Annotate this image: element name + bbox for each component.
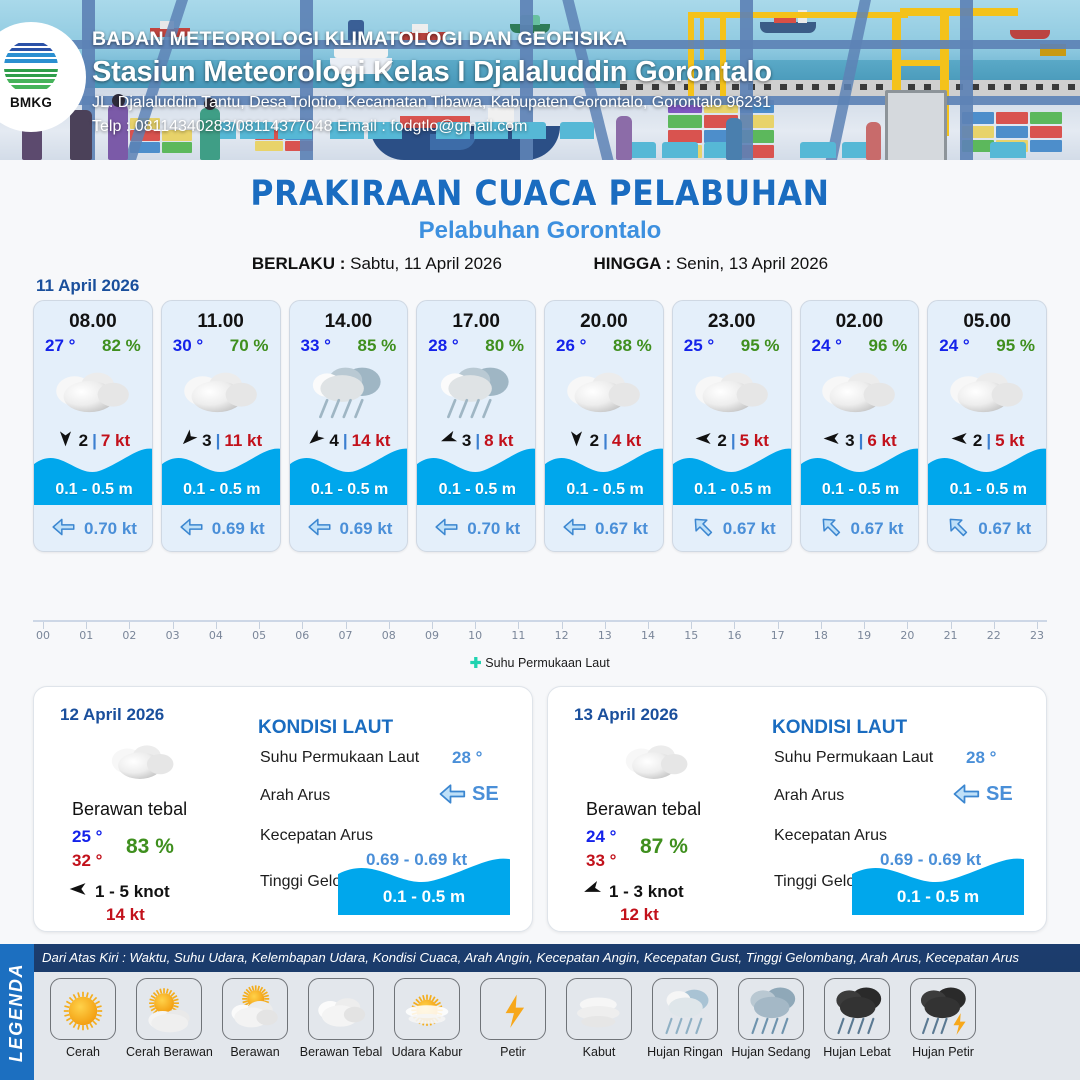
current-direction-label: Arah Arus: [774, 787, 844, 805]
daily-temp-min: 25 °: [72, 827, 102, 847]
page-subtitle: Pelabuhan Gorontalo: [0, 217, 1080, 245]
hourly-forecast-card: 02.00 24 ° 96 % 3 | 6 kt 0.1 - 0.5 m: [800, 300, 920, 552]
hingga-group: HINGGA : Senin, 13 April 2026: [593, 254, 828, 274]
legend-item: Cerah: [40, 978, 126, 1059]
axis-tick-label: 00: [36, 629, 50, 642]
sst-label: Suhu Permukaan Laut: [260, 749, 419, 767]
forecast-time: 02.00: [801, 311, 919, 333]
daily-gust: 12 kt: [620, 905, 659, 925]
berlaku-group: BERLAKU : Sabtu, 11 April 2026: [252, 254, 502, 274]
validity-row: BERLAKU : Sabtu, 11 April 2026 HINGGA : …: [0, 254, 1080, 274]
current-speed: 0.69 kt: [212, 519, 265, 539]
wave-height-block: 0.1 - 0.5 m: [801, 443, 920, 505]
daily-wave-value: 0.1 - 0.5 m: [852, 887, 1024, 907]
hingga-value: Senin, 13 April 2026: [676, 254, 828, 273]
daily-humidity: 83 %: [126, 835, 174, 859]
axis-tick-label: 23: [1030, 629, 1044, 642]
daily-humidity: 87 %: [640, 835, 688, 859]
air-temperature: 27 °: [45, 336, 75, 356]
current-direction-value: SE: [986, 783, 1013, 806]
hourly-forecast-card: 11.00 30 ° 70 % 3 | 11 kt 0.1 - 0.5 m: [161, 300, 281, 552]
humidity: 70 %: [230, 336, 269, 356]
sst-legend-label: Suhu Permukaan Laut: [485, 656, 609, 670]
current-row: 0.67 kt: [928, 507, 1047, 551]
current-speed-label: Kecepatan Arus: [774, 827, 887, 845]
thunderstorm-icon: [910, 978, 976, 1040]
legend-item-label: Petir: [470, 1045, 556, 1059]
hourly-forecast-card: 14.00 33 ° 85 % 4 |: [289, 300, 409, 552]
wave-height: 0.1 - 0.5 m: [34, 481, 153, 499]
lightning-icon: [480, 978, 546, 1040]
sea-condition-title: KONDISI LAUT: [258, 717, 393, 739]
legend-side-label: LEGENDA: [0, 944, 34, 1080]
daily-condition: Berawan tebal: [72, 799, 187, 820]
wave-height-block: 0.1 - 0.5 m: [928, 443, 1047, 505]
axis-tick: [562, 622, 563, 629]
weather-condition-icon: [162, 360, 280, 422]
axis-tick: [475, 622, 476, 629]
legend-item: Hujan Petir: [900, 978, 986, 1059]
daily-wind-direction-icon: [582, 879, 602, 904]
axis-tick: [994, 622, 995, 629]
forecast-time: 05.00: [928, 311, 1046, 333]
daily-wave-block: 0.1 - 0.5 m: [338, 853, 510, 915]
legend-item-label: Cerah Berawan: [126, 1045, 212, 1059]
current-direction-icon: [434, 514, 460, 545]
haze-icon: [394, 978, 460, 1040]
current-speed: 0.67 kt: [978, 519, 1031, 539]
current-row: 0.70 kt: [417, 507, 536, 551]
wave-height-block: 0.1 - 0.5 m: [162, 443, 281, 505]
axis-tick-label: 16: [727, 629, 741, 642]
legend-item-label: Berawan Tebal: [298, 1045, 384, 1059]
current-direction-icon: [307, 514, 333, 545]
daily-wind-range: 1 - 5 knot: [95, 882, 170, 902]
hourly-forecast-card: 23.00 25 ° 95 % 2 | 5 kt 0.1 - 0.5 m: [672, 300, 792, 552]
humidity: 80 %: [485, 336, 524, 356]
forecast-time: 08.00: [34, 311, 152, 333]
daily-wind-row: 1 - 5 knot: [68, 879, 170, 904]
axis-tick: [346, 622, 347, 629]
current-direction-icon: [945, 514, 971, 545]
axis-tick-label: 05: [252, 629, 266, 642]
station-contact: Telp : 08114340283/08114377048 Email : f…: [92, 115, 1072, 139]
sst-legend-marker-icon: [470, 657, 481, 668]
legend-item: Petir: [470, 978, 556, 1059]
cloud-icon: [308, 978, 374, 1040]
humidity: 95 %: [996, 336, 1035, 356]
current-speed: 0.67 kt: [723, 519, 776, 539]
humidity: 96 %: [869, 336, 908, 356]
daily-wave-value: 0.1 - 0.5 m: [338, 887, 510, 907]
axis-tick-label: 11: [511, 629, 525, 642]
legend-item: Hujan Sedang: [728, 978, 814, 1059]
weather-condition-icon: [545, 360, 663, 422]
weather-condition-icon: [290, 360, 408, 422]
axis-tick-label: 04: [209, 629, 223, 642]
agency-name: BADAN METEOROLOGI KLIMATOLOGI DAN GEOFIS…: [92, 26, 1072, 52]
wave-height: 0.1 - 0.5 m: [673, 481, 792, 499]
axis-tick: [129, 622, 130, 629]
legend-item: Hujan Ringan: [642, 978, 728, 1059]
current-row: 0.69 kt: [162, 507, 281, 551]
air-temperature: 33 °: [301, 336, 331, 356]
daily-temp-min: 24 °: [586, 827, 616, 847]
axis-tick-label: 09: [425, 629, 439, 642]
daily-wind-range: 1 - 3 knot: [609, 882, 684, 902]
axis-tick: [864, 622, 865, 629]
axis-tick: [691, 622, 692, 629]
weather-condition-icon: [801, 360, 919, 422]
bmkg-logo-text: BMKG: [0, 95, 64, 110]
axis-tick-label: 06: [295, 629, 309, 642]
wave-height: 0.1 - 0.5 m: [290, 481, 409, 499]
air-temperature: 30 °: [173, 336, 203, 356]
legend-item-label: Hujan Sedang: [728, 1045, 814, 1059]
axis-tick: [1037, 622, 1038, 629]
current-direction-icon: [690, 514, 716, 545]
legend-item: Berawan Tebal: [298, 978, 384, 1059]
chart-axis-ticks: 0001020304050607080910111213141516171819…: [33, 622, 1047, 646]
current-row: 0.67 kt: [801, 507, 920, 551]
forecast-time: 23.00: [673, 311, 791, 333]
legend-bar: LEGENDA Dari Atas Kiri : Waktu, Suhu Uda…: [0, 944, 1080, 1080]
current-speed: 0.67 kt: [851, 519, 904, 539]
current-direction-value: SE: [472, 783, 499, 806]
current-speed: 0.70 kt: [84, 519, 137, 539]
axis-tick: [907, 622, 908, 629]
berlaku-value: Sabtu, 11 April 2026: [350, 254, 502, 273]
air-temperature: 28 °: [428, 336, 458, 356]
legend-item: Hujan Lebat: [814, 978, 900, 1059]
current-row: 0.70 kt: [34, 507, 153, 551]
current-direction-label: Arah Arus: [260, 787, 330, 805]
axis-tick-label: 07: [339, 629, 353, 642]
forecast-time: 20.00: [545, 311, 663, 333]
wave-height-block: 0.1 - 0.5 m: [417, 443, 536, 505]
axis-tick: [216, 622, 217, 629]
sst-label: Suhu Permukaan Laut: [774, 749, 933, 767]
forecast-day-label: 11 April 2026: [36, 276, 139, 296]
current-direction-icon: [818, 514, 844, 545]
air-temperature: 24 °: [812, 336, 842, 356]
axis-tick: [518, 622, 519, 629]
current-direction-icon: [562, 514, 588, 545]
legend-item: Berawan: [212, 978, 298, 1059]
daily-current-direction-icon: [438, 779, 468, 814]
daily-wind-direction-icon: [68, 879, 88, 904]
daily-wind-row: 1 - 3 knot: [582, 879, 684, 904]
humidity: 82 %: [102, 336, 141, 356]
sun-icon: [50, 978, 116, 1040]
current-speed-label: Kecepatan Arus: [260, 827, 373, 845]
current-speed: 0.69 kt: [340, 519, 393, 539]
legend-item-label: Hujan Petir: [900, 1045, 986, 1059]
legend-item-label: Hujan Ringan: [642, 1045, 728, 1059]
current-direction-icon: [51, 514, 77, 545]
axis-tick-label: 21: [944, 629, 958, 642]
daily-temp-max: 32 °: [72, 851, 102, 871]
axis-tick-label: 03: [166, 629, 180, 642]
legend-note: Dari Atas Kiri : Waktu, Suhu Udara, Kele…: [42, 950, 1072, 965]
axis-tick-label: 17: [771, 629, 785, 642]
axis-tick: [259, 622, 260, 629]
hourly-forecast-card: 08.00 27 ° 82 % 2 | 7 kt 0.1 - 0.5 m: [33, 300, 153, 552]
axis-tick-label: 02: [122, 629, 136, 642]
current-speed: 0.67 kt: [595, 519, 648, 539]
air-temperature: 24 °: [939, 336, 969, 356]
hourly-forecast-card: 20.00 26 ° 88 % 2 | 4 kt 0.1 - 0.5 m: [544, 300, 664, 552]
axis-tick: [821, 622, 822, 629]
berlaku-label: BERLAKU :: [252, 254, 346, 273]
legend-item-label: Kabut: [556, 1045, 642, 1059]
axis-tick: [302, 622, 303, 629]
light-rain-icon: [652, 978, 718, 1040]
wave-height-block: 0.1 - 0.5 m: [34, 443, 153, 505]
daily-weather-icon: [104, 735, 182, 787]
hourly-forecast-card: 17.00 28 ° 80 % 3 |: [416, 300, 536, 552]
daily-current-direction-icon: [952, 779, 982, 814]
legend-item-label: Berawan: [212, 1045, 298, 1059]
current-direction-icon: [179, 514, 205, 545]
forecast-time: 17.00: [417, 311, 535, 333]
air-temperature: 25 °: [684, 336, 714, 356]
axis-tick: [734, 622, 735, 629]
forecast-time: 11.00: [162, 311, 280, 333]
wave-height: 0.1 - 0.5 m: [162, 481, 281, 499]
sst-value: 28 °: [966, 748, 996, 768]
daily-gust: 14 kt: [106, 905, 145, 925]
daily-forecast-list: 12 April 2026 Berawan tebal 25 ° 32 ° 83…: [33, 686, 1047, 932]
cloud-sun-icon: [222, 978, 288, 1040]
page-title: PRAKIRAAN CUACA PELABUHAN: [0, 174, 1080, 214]
legend-item-label: Udara Kabur: [384, 1045, 470, 1059]
axis-tick: [389, 622, 390, 629]
axis-tick: [648, 622, 649, 629]
daily-date: 12 April 2026: [60, 705, 164, 725]
chart-legend: Suhu Permukaan Laut: [33, 656, 1047, 670]
wave-height: 0.1 - 0.5 m: [801, 481, 920, 499]
daily-weather-icon: [618, 735, 696, 787]
axis-tick-label: 13: [598, 629, 612, 642]
axis-tick-label: 18: [814, 629, 828, 642]
axis-tick: [778, 622, 779, 629]
daily-forecast-panel: 12 April 2026 Berawan tebal 25 ° 32 ° 83…: [33, 686, 533, 932]
weather-condition-icon: [928, 360, 1046, 422]
legend-item-label: Cerah: [40, 1045, 126, 1059]
axis-tick-label: 20: [900, 629, 914, 642]
wave-height: 0.1 - 0.5 m: [417, 481, 536, 499]
humidity: 95 %: [741, 336, 780, 356]
axis-tick-label: 15: [684, 629, 698, 642]
station-name: Stasiun Meteorologi Kelas I Djalaluddin …: [92, 53, 1072, 91]
wave-height: 0.1 - 0.5 m: [928, 481, 1047, 499]
axis-tick: [86, 622, 87, 629]
axis-tick: [605, 622, 606, 629]
title-block: PRAKIRAAN CUACA PELABUHAN Pelabuhan Goro…: [0, 160, 1080, 274]
humidity: 88 %: [613, 336, 652, 356]
wave-height-block: 0.1 - 0.5 m: [290, 443, 409, 505]
legend-icon-list: Cerah Cerah Berawan Berawan Berawan Teba…: [34, 972, 1080, 1080]
axis-tick-label: 08: [382, 629, 396, 642]
axis-tick-label: 19: [857, 629, 871, 642]
current-row: 0.69 kt: [290, 507, 409, 551]
axis-tick-label: 01: [79, 629, 93, 642]
current-speed: 0.70 kt: [467, 519, 520, 539]
station-address: JL. Djalaluddin Tantu, Desa Tolotio, Kec…: [92, 91, 1072, 115]
legend-item-label: Hujan Lebat: [814, 1045, 900, 1059]
weather-condition-icon: [673, 360, 791, 422]
moderate-rain-icon: [738, 978, 804, 1040]
daily-wave-block: 0.1 - 0.5 m: [852, 853, 1024, 915]
legend-item: Cerah Berawan: [126, 978, 212, 1059]
axis-tick-label: 12: [555, 629, 569, 642]
hingga-label: HINGGA :: [593, 254, 671, 273]
hourly-forecast-list: 08.00 27 ° 82 % 2 | 7 kt 0.1 - 0.5 m: [33, 300, 1047, 552]
sun-cloud-icon: [136, 978, 202, 1040]
forecast-time: 14.00: [290, 311, 408, 333]
humidity: 85 %: [358, 336, 397, 356]
sea-condition-title: KONDISI LAUT: [772, 717, 907, 739]
weather-condition-icon: [417, 360, 535, 422]
axis-tick: [432, 622, 433, 629]
axis-tick: [43, 622, 44, 629]
page-header: BMKG BADAN METEOROLOGI KLIMATOLOGI DAN G…: [0, 0, 1080, 160]
legend-item: Kabut: [556, 978, 642, 1059]
legend-side-text: LEGENDA: [7, 962, 28, 1061]
wave-height-block: 0.1 - 0.5 m: [673, 443, 792, 505]
axis-tick-label: 22: [987, 629, 1001, 642]
daily-date: 13 April 2026: [574, 705, 678, 725]
wave-height: 0.1 - 0.5 m: [545, 481, 664, 499]
wave-height-block: 0.1 - 0.5 m: [545, 443, 664, 505]
daily-temp-max: 33 °: [586, 851, 616, 871]
current-row: 0.67 kt: [545, 507, 664, 551]
weather-condition-icon: [34, 360, 152, 422]
sst-chart: 0001020304050607080910111213141516171819…: [33, 620, 1047, 646]
daily-forecast-panel: 13 April 2026 Berawan tebal 24 ° 33 ° 87…: [547, 686, 1047, 932]
hourly-forecast-card: 05.00 24 ° 95 % 2 | 5 kt 0.1 - 0.5 m: [927, 300, 1047, 552]
heavy-rain-icon: [824, 978, 890, 1040]
air-temperature: 26 °: [556, 336, 586, 356]
daily-condition: Berawan tebal: [586, 799, 701, 820]
sst-value: 28 °: [452, 748, 482, 768]
axis-tick-label: 14: [641, 629, 655, 642]
axis-tick-label: 10: [468, 629, 482, 642]
legend-item: Udara Kabur: [384, 978, 470, 1059]
current-row: 0.67 kt: [673, 507, 792, 551]
axis-tick: [173, 622, 174, 629]
axis-tick: [951, 622, 952, 629]
fog-icon: [566, 978, 632, 1040]
